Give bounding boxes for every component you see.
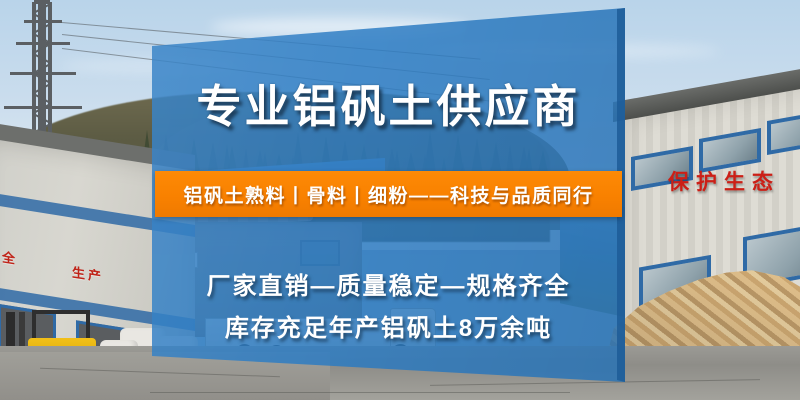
headline: 专业铝矾土供应商 bbox=[152, 82, 625, 132]
banner-content: 专业铝矾土供应商 铝矾土熟料丨骨料丨细粉——科技与品质同行 厂家直销—质量稳定—… bbox=[0, 0, 800, 400]
subtitle-line-1: 厂家直销—质量稳定—规格齐全 bbox=[152, 266, 625, 301]
subtitle-line-2: 库存充足年产铝矾土8万余吨 bbox=[152, 308, 625, 343]
orange-tagline-text: 铝矾土熟料丨骨料丨细粉——科技与品质同行 bbox=[183, 181, 593, 208]
orange-tagline-bar: 铝矾土熟料丨骨料丨细粉——科技与品质同行 bbox=[155, 171, 622, 217]
banner-stage: 安全 生产 保护生态 bbox=[0, 0, 800, 400]
